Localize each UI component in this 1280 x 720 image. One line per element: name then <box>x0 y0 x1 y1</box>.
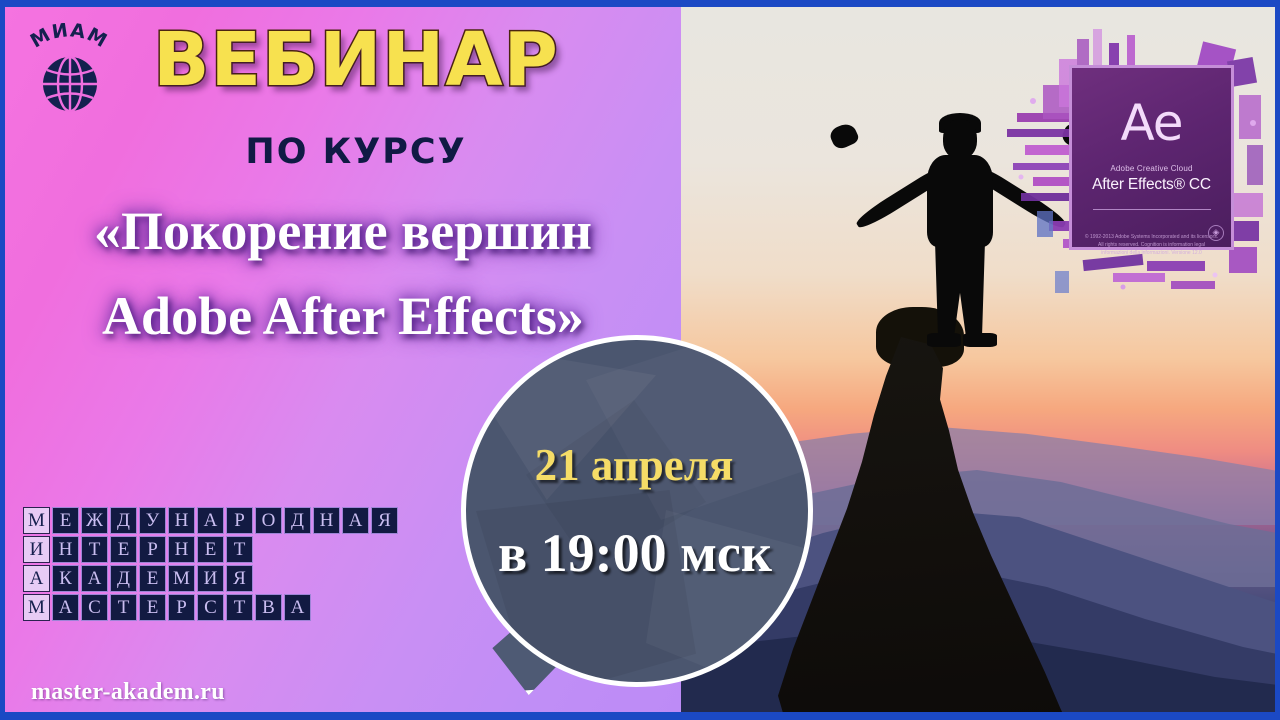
crossword-cell: Е <box>139 594 166 621</box>
crossword-cell: Р <box>226 507 253 534</box>
crossword-key-cell: А <box>23 565 50 592</box>
crossword-cell: Д <box>110 507 137 534</box>
webinar-banner: МИАМ ВЕБИНАР ПО КУРСУ <box>0 0 1280 720</box>
ae-legal-text: © 1992-2013 Adobe Systems Incorporated a… <box>1084 234 1219 257</box>
crossword-row: И Н Т Е Р Н Е Т <box>23 536 400 563</box>
ae-divider <box>1093 209 1211 210</box>
ae-splash-card: Ae Adobe Creative Cloud After Effects® C… <box>1069 65 1234 250</box>
crossword-cell: Е <box>52 507 79 534</box>
course-title-line-1: «Покорение вершин <box>13 189 673 274</box>
climber-hand-left <box>828 121 861 152</box>
crossword-cell: К <box>52 565 79 592</box>
climber-legs <box>935 241 985 337</box>
adobe-badge-icon: ◈ <box>1208 225 1224 241</box>
crossword-cell: Е <box>197 536 224 563</box>
climber-foot-left <box>927 333 961 347</box>
crossword-key-cell: М <box>23 507 50 534</box>
crossword-cell: А <box>342 507 369 534</box>
banner-canvas: МИАМ ВЕБИНАР ПО КУРСУ <box>5 7 1275 712</box>
site-url[interactable]: master-akadem.ru <box>31 679 225 706</box>
crossword-cell: Т <box>110 594 137 621</box>
globe-icon <box>41 55 99 113</box>
crossword-cell: С <box>197 594 224 621</box>
crossword-cell: У <box>139 507 166 534</box>
crossword-cell: Я <box>371 507 398 534</box>
event-datetime-bubble: 21 апреля в 19:00 мск <box>439 335 817 712</box>
crossword-cell: Т <box>81 536 108 563</box>
crossword-cell: О <box>255 507 282 534</box>
brand-logo: МИАМ <box>21 23 117 127</box>
crossword-row: А К А Д Е М И Я <box>23 565 400 592</box>
crossword-cell: Е <box>139 565 166 592</box>
crossword-cell: Е <box>110 536 137 563</box>
ae-logo-text: Ae <box>1072 98 1231 148</box>
crossword-cell: Н <box>52 536 79 563</box>
crossword-cell: И <box>197 565 224 592</box>
crossword-cell: А <box>197 507 224 534</box>
svg-text:МИАМ: МИАМ <box>27 23 112 53</box>
crossword-cell: Д <box>284 507 311 534</box>
event-date: 21 апреля <box>535 443 734 488</box>
crossword-cell: Т <box>226 536 253 563</box>
crossword-cell: С <box>81 594 108 621</box>
ae-product-name: After Effects® CC <box>1072 176 1231 194</box>
crossword-key-cell: М <box>23 594 50 621</box>
crossword-cell: Р <box>168 594 195 621</box>
headline-subtitle: ПО КУРСУ <box>123 132 589 172</box>
crossword-row: М А С Т Е Р С Т В А <box>23 594 400 621</box>
after-effects-splash: Ae Adobe Creative Cloud After Effects® C… <box>1003 25 1273 300</box>
academy-name-crossword: М Е Ж Д У Н А Р О Д Н А Я И Н Т <box>23 507 400 623</box>
crossword-cell: В <box>255 594 282 621</box>
crossword-row: М Е Ж Д У Н А Р О Д Н А Я <box>23 507 400 534</box>
climber-head <box>943 119 977 159</box>
bubble-text-group: 21 апреля в 19:00 мск <box>461 335 813 687</box>
crossword-cell: Ж <box>81 507 108 534</box>
crossword-cell: Я <box>226 565 253 592</box>
crossword-cell: Н <box>313 507 340 534</box>
event-time: в 19:00 мск <box>498 526 772 580</box>
crossword-cell: Д <box>110 565 137 592</box>
crossword-cell: М <box>168 565 195 592</box>
ae-creative-cloud-label: Adobe Creative Cloud <box>1072 164 1231 173</box>
climber-torso <box>927 155 993 247</box>
crossword-cell: А <box>284 594 311 621</box>
crossword-cell: Т <box>226 594 253 621</box>
crossword-cell: Н <box>168 507 195 534</box>
climber-foot-right <box>963 333 997 347</box>
page-title: ВЕБИНАР <box>123 23 589 97</box>
crossword-cell: Н <box>168 536 195 563</box>
crossword-cell: А <box>81 565 108 592</box>
crossword-key-cell: И <box>23 536 50 563</box>
crossword-cell: А <box>52 594 79 621</box>
crossword-cell: Р <box>139 536 166 563</box>
